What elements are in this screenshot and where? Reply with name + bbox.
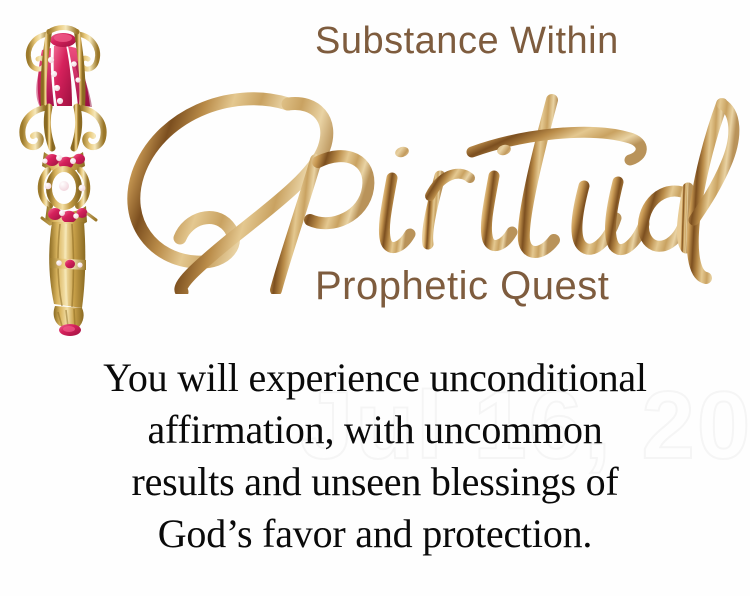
brand-tagline-top: Substance Within <box>315 20 619 63</box>
poster-canvas: Jul 16, 20 <box>0 0 750 596</box>
message-line-3: results and unseen blessings of <box>14 456 736 508</box>
message-line-2: affirmation, with uncommon <box>14 404 736 456</box>
message-line-1: You will experience unconditional <box>14 352 736 404</box>
brand-logo: Substance Within <box>110 6 750 336</box>
message-line-4: God’s favor and protection. <box>14 508 736 560</box>
brand-script-wordmark <box>110 64 750 294</box>
brand-tagline-bottom: Prophetic Quest <box>315 264 609 309</box>
message-text: You will experience unconditional affirm… <box>14 352 736 560</box>
